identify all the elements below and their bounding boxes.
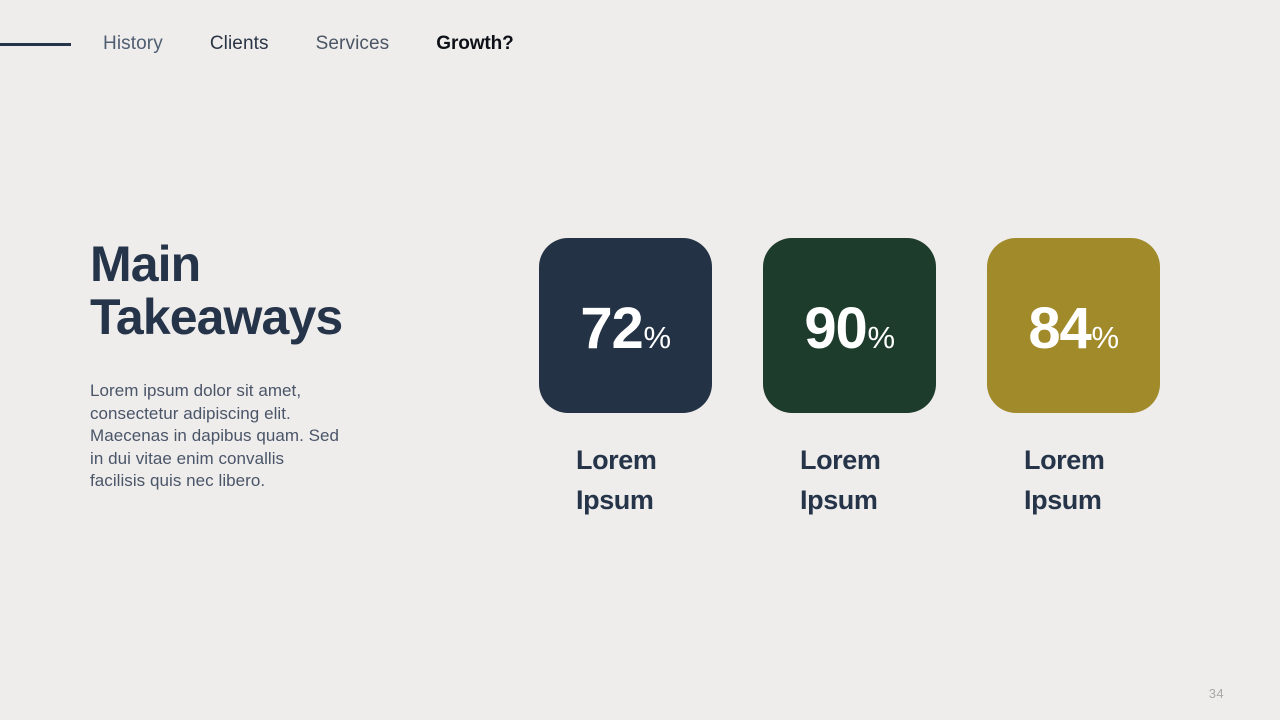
stat-label-1: Lorem Ipsum [539,413,712,520]
page-number: 34 [1209,686,1224,702]
stat-unit-3: % [1092,322,1119,353]
nav-item-growth[interactable]: Growth? [436,27,513,61]
stat-number-3: 84 [1028,300,1090,358]
stat-label-2-line-1: Lorem [800,440,936,480]
stat-tile-3: 84 % [987,238,1160,413]
stat-card-group: 72 % Lorem Ipsum 90 % Lorem Ipsum 84 % [539,238,1160,520]
intro-column: Main Takeaways Lorem ipsum dolor sit ame… [90,238,390,493]
stat-unit-2: % [868,322,895,353]
stat-label-1-line-1: Lorem [576,440,712,480]
intro-paragraph: Lorem ipsum dolor sit amet, consectetur … [90,344,340,493]
stat-card: 90 % Lorem Ipsum [763,238,936,520]
stat-value-3: 84 % [1028,300,1118,358]
slide-canvas: { "theme": { "background": "#EEEDEC", "i… [0,0,1280,720]
stat-card: 84 % Lorem Ipsum [987,238,1160,520]
stat-number-2: 90 [804,300,866,358]
stat-label-3-line-1: Lorem [1024,440,1160,480]
stat-label-1-line-2: Ipsum [576,480,712,520]
page-title: Main Takeaways [90,238,390,344]
stat-label-3-line-2: Ipsum [1024,480,1160,520]
stat-label-3: Lorem Ipsum [987,413,1160,520]
top-navigation: History Clients Services Growth? [0,27,1280,61]
nav-item-list: History Clients Services Growth? [103,27,514,61]
stat-tile-2: 90 % [763,238,936,413]
nav-accent-rule [0,43,71,46]
stat-tile-1: 72 % [539,238,712,413]
stat-label-2: Lorem Ipsum [763,413,936,520]
stat-unit-1: % [644,322,671,353]
nav-item-services[interactable]: Services [316,27,390,61]
nav-item-history[interactable]: History [103,27,163,61]
stat-label-2-line-2: Ipsum [800,480,936,520]
page-title-line-1: Main [90,238,390,291]
nav-item-clients[interactable]: Clients [210,27,269,61]
stat-value-2: 90 % [804,300,894,358]
stat-number-1: 72 [580,300,642,358]
stat-card: 72 % Lorem Ipsum [539,238,712,520]
page-title-line-2: Takeaways [90,291,390,344]
stat-value-1: 72 % [580,300,670,358]
